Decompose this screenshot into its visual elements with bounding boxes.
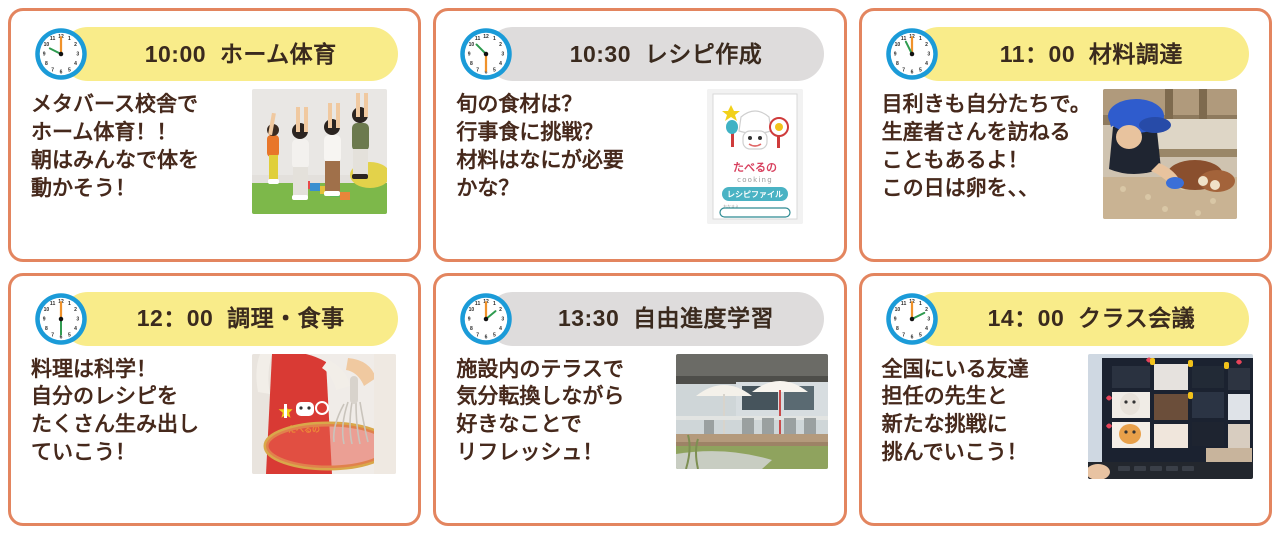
svg-text:4: 4 (499, 326, 502, 332)
svg-text:3: 3 (502, 316, 505, 322)
svg-text:5: 5 (68, 332, 71, 338)
svg-text:8: 8 (45, 61, 48, 67)
card-description: メタバース校舎で ホーム体育！！ 朝はみんなで体を 動かそう！ (27, 89, 246, 203)
svg-text:12: 12 (484, 34, 490, 40)
svg-text:9: 9 (43, 52, 46, 58)
svg-text:10: 10 (894, 42, 900, 48)
svg-text:8: 8 (45, 326, 48, 332)
card-title-label: 調理・食事 (227, 305, 345, 331)
card-title-label: 材料調達 (1089, 41, 1183, 67)
svg-text:1: 1 (68, 36, 71, 42)
clock-10-00-icon: 1212 345 678 91011 (33, 26, 89, 82)
clock-13-30-icon: 1212 345 678 91011 (458, 291, 514, 347)
card-header: 1212 345 678 91011 12：00 調理・食事 (33, 290, 402, 348)
svg-text:3: 3 (502, 52, 505, 58)
svg-text:9: 9 (893, 52, 896, 58)
card-title-time: 10:30 (570, 41, 631, 67)
card-description: 料理は科学！ 自分のレシピを たくさん生み出し ていこう！ (27, 354, 246, 468)
svg-text:6: 6 (910, 70, 913, 76)
svg-text:7: 7 (902, 67, 905, 73)
svg-text:11: 11 (901, 301, 907, 307)
clock-12-00-icon: 1212 345 678 91011 (33, 291, 89, 347)
recipe-file-booklet-photo: たべるの cooking レシピファイル おなまえ (707, 89, 803, 224)
terrace-parasols-photo (676, 354, 828, 469)
card-title-time: 10:00 (145, 41, 206, 67)
card-title-label: ホーム体育 (220, 41, 337, 67)
svg-text:8: 8 (470, 61, 473, 67)
card-title: 10:00 ホーム体育 (89, 43, 402, 66)
card-title-time: 13:30 (558, 305, 619, 331)
svg-text:3: 3 (76, 52, 79, 58)
svg-text:2: 2 (499, 42, 502, 48)
card-title: 11：00 材料調達 (940, 43, 1253, 66)
svg-text:5: 5 (919, 332, 922, 338)
recipe-subtitle-label: cooking (737, 176, 773, 184)
svg-text:7: 7 (51, 67, 54, 73)
svg-text:11: 11 (475, 36, 481, 42)
svg-text:5: 5 (493, 332, 496, 338)
svg-text:9: 9 (468, 52, 471, 58)
svg-text:10: 10 (44, 307, 50, 313)
svg-text:1: 1 (68, 301, 71, 307)
card-header: 1212 345 678 91011 10:00 ホーム体育 (33, 25, 402, 83)
svg-text:4: 4 (925, 326, 928, 332)
svg-text:5: 5 (493, 67, 496, 73)
svg-text:2: 2 (925, 42, 928, 48)
svg-text:11: 11 (50, 36, 56, 42)
card-body: 目利きも自分たちで。 生産者さんを訪ねる こともあるよ！ この日は卵を、、 (878, 83, 1253, 249)
card-description: 旬の食材は？ 行事食に挑戦？ 材料はなにが必要 かな？ (452, 89, 701, 203)
recipe-brand-label: たべるの (733, 161, 777, 174)
recipe-button-label: レシピファイル (727, 189, 783, 199)
schedule-card-cooking-meal[interactable]: 1212 345 678 91011 12：00 調理・食事 料理は科学！ 自分… (8, 273, 421, 527)
card-description: 施設内のテラスで 気分転換しながら 好きなことで リフレッシュ！ (452, 354, 669, 468)
svg-text:2: 2 (74, 307, 77, 313)
clock-14-00-icon: 1212 345 678 91011 (884, 291, 940, 347)
card-description: 全国にいる友達 担任の先生と 新たな挑戦に 挑んでいこう！ (878, 354, 1082, 468)
card-body: 全国にいる友達 担任の先生と 新たな挑戦に 挑んでいこう！ (878, 348, 1253, 514)
svg-text:9: 9 (43, 316, 46, 322)
svg-text:11: 11 (50, 301, 56, 307)
kids-stretching-gym-photo (252, 89, 387, 214)
svg-text:10: 10 (894, 307, 900, 313)
card-header: 1212 345 678 91011 13:30 自由進度学習 (458, 290, 827, 348)
card-body: 旬の食材は？ 行事食に挑戦？ 材料はなにが必要 かな？ (452, 83, 827, 249)
schedule-card-ingredient-sourcing[interactable]: 1212 345 678 91011 11：00 材料調達 目利きも自分たちで。… (859, 8, 1272, 262)
svg-text:7: 7 (477, 67, 480, 73)
card-title-time: 11：00 (1000, 41, 1075, 67)
svg-text:3: 3 (76, 316, 79, 322)
card-header: 1212 345 678 91011 11：00 材料調達 (884, 25, 1253, 83)
online-class-laptop-photo (1088, 354, 1253, 479)
card-title-label: クラス会議 (1078, 305, 1195, 331)
svg-text:9: 9 (893, 316, 896, 322)
card-title-time: 14：00 (988, 305, 1065, 331)
card-header: 1212 345 678 91011 14：00 クラス会議 (884, 290, 1253, 348)
svg-text:3: 3 (927, 316, 930, 322)
svg-text:2: 2 (74, 42, 77, 48)
svg-text:4: 4 (499, 61, 502, 67)
svg-text:7: 7 (51, 332, 54, 338)
card-title: 12：00 調理・食事 (89, 307, 402, 330)
card-title: 13:30 自由進度学習 (514, 307, 827, 330)
boy-collecting-eggs-photo (1103, 89, 1237, 219)
card-header: 1212 345 678 91011 10:30 レシピ作成 (458, 25, 827, 83)
schedule-card-recipe-creation[interactable]: 1212 345 678 91011 10:30 レシピ作成 旬の食材は？ 行事… (433, 8, 846, 262)
svg-text:6: 6 (910, 334, 913, 340)
schedule-card-home-pe[interactable]: 1212 345 678 91011 10:00 ホーム体育 メタバース校舎で … (8, 8, 421, 262)
svg-text:2: 2 (499, 307, 502, 313)
clock-10-30-icon: 1212 345 678 91011 (458, 26, 514, 82)
svg-text:8: 8 (470, 326, 473, 332)
svg-text:8: 8 (896, 326, 899, 332)
schedule-card-self-paced-learning[interactable]: 1212 345 678 91011 13:30 自由進度学習 施設内のテラスで… (433, 273, 846, 527)
svg-text:11: 11 (475, 301, 481, 307)
svg-text:10: 10 (469, 307, 475, 313)
svg-text:1: 1 (493, 301, 496, 307)
svg-text:8: 8 (896, 61, 899, 67)
svg-text:5: 5 (68, 67, 71, 73)
svg-text:1: 1 (493, 36, 496, 42)
card-body: 施設内のテラスで 気分転換しながら 好きなことで リフレッシュ！ (452, 348, 827, 514)
schedule-card-class-meeting[interactable]: 1212 345 678 91011 14：00 クラス会議 全国にいる友達 担… (859, 273, 1272, 527)
schedule-grid: 1212 345 678 91011 10:00 ホーム体育 メタバース校舎で … (0, 0, 1280, 534)
svg-text:4: 4 (74, 61, 77, 67)
svg-text:9: 9 (468, 316, 471, 322)
svg-text:2: 2 (925, 307, 928, 313)
clock-11-00-icon: 1212 345 678 91011 (884, 26, 940, 82)
svg-text:7: 7 (477, 332, 480, 338)
card-description: 目利きも自分たちで。 生産者さんを訪ねる こともあるよ！ この日は卵を、、 (878, 89, 1097, 203)
svg-text:1: 1 (919, 301, 922, 307)
svg-text:1: 1 (919, 36, 922, 42)
svg-text:6: 6 (60, 70, 63, 76)
card-body: 料理は科学！ 自分のレシピを たくさん生み出し ていこう！ たべ (27, 348, 402, 514)
card-title: 14：00 クラス会議 (940, 307, 1253, 330)
svg-text:10: 10 (469, 42, 475, 48)
svg-text:3: 3 (927, 52, 930, 58)
card-title-label: 自由進度学習 (633, 305, 774, 331)
card-title-time: 12：00 (137, 305, 214, 331)
whisking-bowl-red-apron-photo: たべるの (252, 354, 396, 474)
svg-text:7: 7 (902, 332, 905, 338)
card-title: 10:30 レシピ作成 (514, 43, 827, 66)
svg-text:4: 4 (925, 61, 928, 67)
card-title-label: レシピ作成 (645, 41, 763, 67)
svg-text:10: 10 (44, 42, 50, 48)
svg-text:4: 4 (74, 326, 77, 332)
svg-text:5: 5 (919, 67, 922, 73)
card-body: メタバース校舎で ホーム体育！！ 朝はみんなで体を 動かそう！ (27, 83, 402, 249)
svg-text:6: 6 (485, 334, 488, 340)
